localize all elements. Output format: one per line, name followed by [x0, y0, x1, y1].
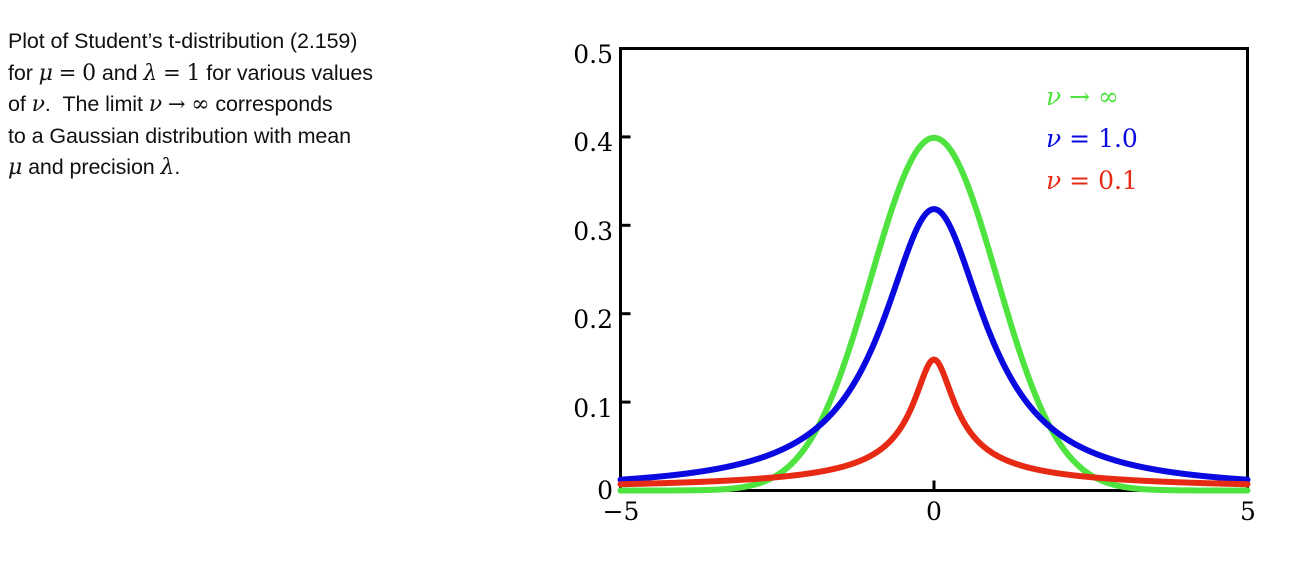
legend-symbol-nu: ν	[1046, 124, 1061, 153]
y-tick-label-0.3: 0.3	[543, 217, 613, 246]
y-tick-label-0.4: 0.4	[543, 128, 613, 157]
legend-entry-nu-0.1: ν = 0.1	[1046, 166, 1138, 195]
x-tick-label-5: 5	[1208, 497, 1288, 526]
curve-nu-0.1	[621, 360, 1248, 485]
y-tick-label-0.2: 0.2	[543, 305, 613, 334]
plot-frame	[621, 49, 1248, 491]
legend-entry-nu-1.0: ν = 1.0	[1046, 124, 1138, 153]
legend-relation-equals: =	[1069, 166, 1090, 195]
legend-entry-nu-infinity: ν → ∞	[1046, 82, 1119, 111]
curve-nu-1	[621, 209, 1248, 480]
legend-symbol-nu: ν	[1046, 166, 1061, 195]
t-distribution-plot: 0.5 0.4 0.3 0.2 0.1 0 −5 0 5 ν → ∞ ν = 1…	[0, 0, 1298, 566]
legend-value-infinity: ∞	[1098, 82, 1119, 111]
legend-relation-arrow: →	[1069, 82, 1090, 111]
legend-value-0.1: 0.1	[1098, 166, 1138, 195]
legend-symbol-nu: ν	[1046, 82, 1061, 111]
data-curves	[621, 138, 1248, 491]
x-tick-label-minus5: −5	[581, 497, 661, 526]
legend-value-1.0: 1.0	[1098, 124, 1138, 153]
y-tick-label-0.5: 0.5	[543, 40, 613, 69]
curve-nu-infinity	[621, 138, 1248, 491]
x-tick-label-0: 0	[894, 497, 974, 526]
y-tick-label-0.1: 0.1	[543, 394, 613, 423]
legend-relation-equals: =	[1069, 124, 1090, 153]
